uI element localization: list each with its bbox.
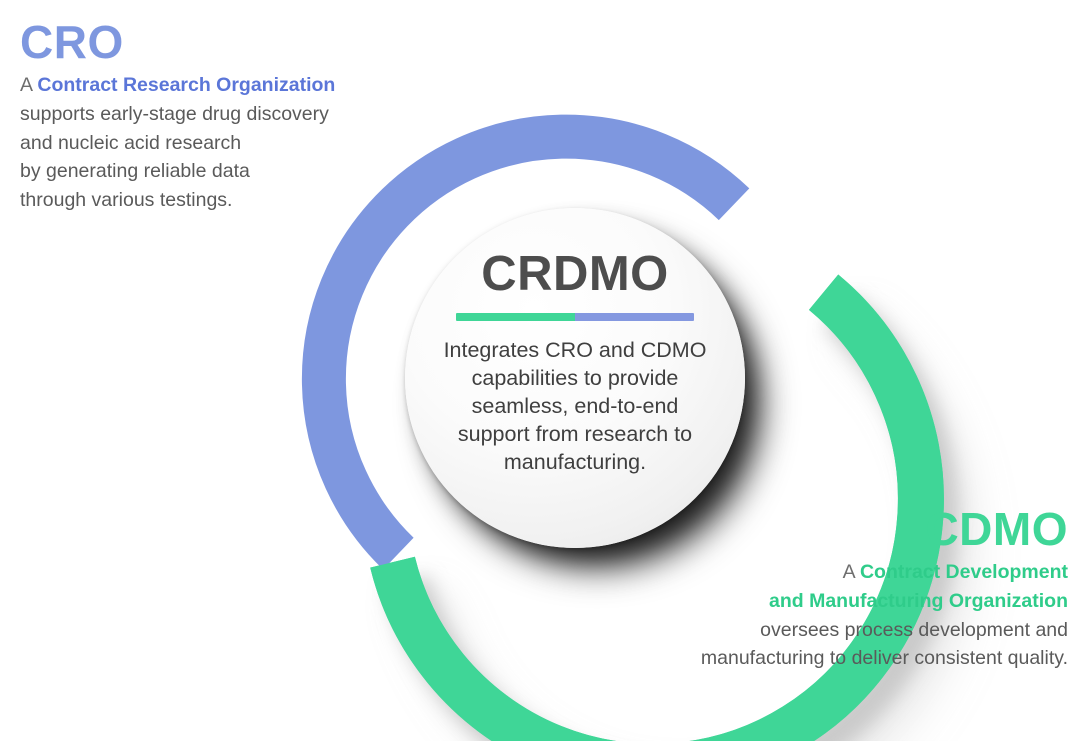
diagram-canvas: CRDMO Integrates CRO and CDMO capabiliti…	[0, 0, 1086, 741]
cro-body-line-4: through various testings.	[20, 189, 232, 211]
cdmo-term-line-1: Contract Development	[860, 561, 1068, 583]
cdmo-body-line-1: oversees process development and	[760, 619, 1068, 641]
cro-heading: CRO	[20, 18, 450, 66]
cdmo-term-line-2: and Manufacturing Organization	[769, 590, 1068, 612]
cdmo-body-line-2: manufacturing to deliver consistent qual…	[701, 647, 1068, 669]
center-description: Integrates CRO and CDMO capabilities to …	[440, 337, 710, 477]
cdmo-text-block: CDMO A Contract Development and Manufact…	[548, 505, 1068, 673]
cro-body-line-3: by generating reliable data	[20, 160, 250, 182]
cro-text-block: CRO A Contract Research Organization sup…	[20, 18, 450, 215]
cdmo-lead-article: A	[843, 561, 860, 583]
cdmo-heading: CDMO	[548, 505, 1068, 553]
cro-body-line-2: and nucleic acid research	[20, 132, 241, 154]
divider-green-half	[456, 313, 575, 321]
crdmo-center-disc: CRDMO Integrates CRO and CDMO capabiliti…	[405, 208, 745, 548]
center-title: CRDMO	[481, 250, 669, 299]
cro-term: Contract Research Organization	[37, 74, 335, 96]
cro-body: A Contract Research Organization support…	[20, 71, 450, 214]
cro-lead-article: A	[20, 74, 37, 96]
center-divider	[456, 313, 694, 321]
cdmo-body: A Contract Development and Manufacturing…	[548, 558, 1068, 673]
cro-body-line-1: supports early-stage drug discovery	[20, 103, 329, 125]
divider-blue-half	[575, 313, 694, 321]
